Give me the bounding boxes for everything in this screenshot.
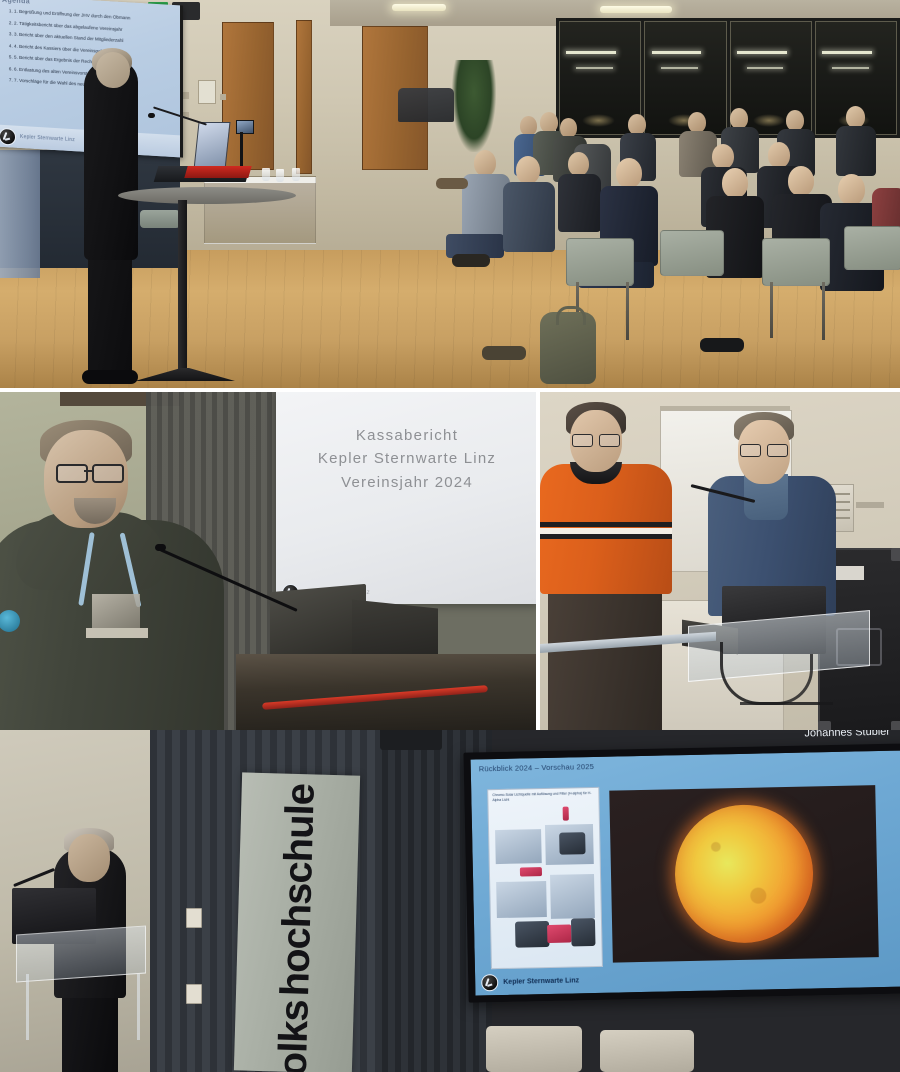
ceiling-light bbox=[392, 4, 446, 11]
auxiliary-monitor bbox=[236, 120, 254, 134]
window-pane bbox=[644, 21, 726, 135]
lens-left bbox=[56, 464, 88, 483]
audience-head bbox=[788, 166, 814, 196]
projection-screen-kassabericht: Kassabericht Kepler Sternwarte Linz Vere… bbox=[276, 392, 536, 604]
hoodie-print-banner bbox=[86, 628, 148, 638]
water-glass bbox=[276, 169, 284, 182]
panel-treasurer-report: Kassabericht Kepler Sternwarte Linz Vere… bbox=[0, 392, 536, 730]
lens-right bbox=[599, 434, 620, 447]
audience-head bbox=[616, 158, 642, 188]
audience-head bbox=[786, 110, 804, 131]
audience-head bbox=[540, 112, 558, 133]
chair-leg bbox=[626, 282, 629, 340]
audience-head bbox=[688, 112, 706, 133]
slide-line-1: Kassabericht bbox=[276, 424, 536, 447]
solar-image bbox=[609, 785, 879, 963]
standing-desk-top bbox=[118, 187, 296, 204]
lens-left bbox=[572, 434, 593, 447]
hall-door bbox=[222, 22, 274, 170]
chair-leg bbox=[822, 282, 825, 340]
audience-head bbox=[722, 168, 748, 198]
coat-rack bbox=[398, 88, 454, 122]
ceiling-speaker bbox=[380, 730, 442, 750]
audience-shoe bbox=[452, 254, 490, 267]
diagram-caption: Chromo-Solar Lichtquelle mit Auflösung u… bbox=[488, 788, 598, 804]
wall-socket bbox=[186, 984, 202, 1004]
audience-head bbox=[582, 124, 601, 146]
audience-head bbox=[474, 150, 496, 176]
red-keyboard bbox=[184, 166, 251, 178]
audience-head bbox=[568, 152, 589, 176]
audience-head bbox=[838, 174, 865, 205]
banner-line-2: hochschule bbox=[275, 783, 321, 996]
water-glass bbox=[262, 168, 270, 181]
audience-head bbox=[628, 114, 646, 135]
slide-line-2: Kepler Sternwarte Linz bbox=[276, 447, 536, 470]
banner-line-1: Volks bbox=[272, 1000, 315, 1072]
eyeglasses-icon bbox=[56, 464, 128, 479]
presentation-screen: Rückblick 2024 – Vorschau 2025 Chromo-So… bbox=[463, 743, 900, 1002]
auditorium-chair bbox=[844, 226, 900, 270]
slide-header: Rückblick 2024 – Vorschau 2025 bbox=[479, 762, 594, 773]
water-glasses bbox=[262, 168, 308, 182]
speaker-head bbox=[68, 834, 110, 882]
sun-disc-icon bbox=[674, 803, 815, 944]
banner-text: Volks hochschule bbox=[234, 772, 360, 1072]
slide-line-3: Vereinsjahr 2024 bbox=[276, 471, 536, 494]
microphone-icon bbox=[148, 113, 155, 118]
audience-head bbox=[712, 144, 734, 169]
slide-footer-label: Kepler Sternwarte Linz bbox=[20, 134, 75, 143]
eyeglasses-icon bbox=[740, 444, 788, 455]
potted-plant bbox=[452, 60, 496, 152]
observatory-logo-icon bbox=[0, 127, 16, 145]
speaker-head bbox=[96, 52, 130, 88]
audience-head bbox=[730, 108, 748, 129]
audience-torso bbox=[836, 126, 876, 176]
panel-review-preview: Volks hochschule Rückblick 2024 – Vorsch… bbox=[0, 730, 900, 1072]
volkshochschule-banner: Volks hochschule bbox=[234, 772, 360, 1072]
slide-equipment-diagram: Chromo-Solar Lichtquelle mit Auflösung u… bbox=[487, 787, 603, 969]
photo-collage: Agenda 1. Begrüßung und Eröffnung der JH… bbox=[0, 0, 900, 1072]
observatory-logo-icon bbox=[481, 974, 498, 991]
lens-left bbox=[740, 444, 761, 457]
presenter-left-legs bbox=[548, 590, 662, 730]
lens-right bbox=[92, 464, 124, 483]
audience-shoe bbox=[436, 178, 468, 189]
wall-switch bbox=[182, 92, 189, 99]
standing-desk-stem bbox=[178, 200, 187, 375]
panel-lecture-hall-overview: Agenda 1. Begrüßung und Eröffnung der JH… bbox=[0, 0, 900, 388]
audience-torso bbox=[558, 174, 601, 232]
audience-shoe bbox=[700, 338, 744, 352]
auditorium-chair bbox=[566, 238, 634, 286]
auditorium-chair bbox=[660, 230, 724, 276]
empty-chair bbox=[140, 210, 180, 228]
panel-two-presenters bbox=[540, 392, 900, 730]
stage-chair bbox=[600, 1030, 694, 1072]
lectern-frame bbox=[26, 974, 140, 1040]
audience-torso bbox=[503, 182, 555, 252]
audience-shoe bbox=[482, 346, 526, 360]
speaker-legs bbox=[88, 245, 132, 380]
wall-sign bbox=[856, 502, 884, 508]
audience-head bbox=[846, 106, 865, 128]
audience-head bbox=[560, 118, 577, 138]
wall-poster bbox=[198, 80, 216, 104]
stage-chair bbox=[486, 1026, 582, 1072]
slide-text: Kassabericht Kepler Sternwarte Linz Vere… bbox=[276, 424, 536, 494]
backpack bbox=[540, 312, 596, 384]
auditorium-chair bbox=[762, 238, 830, 286]
audience-head bbox=[768, 142, 790, 168]
water-glass bbox=[292, 168, 300, 181]
lens-right bbox=[767, 444, 788, 457]
microphone-icon bbox=[155, 544, 166, 551]
chair-leg bbox=[770, 282, 773, 338]
hall-door bbox=[296, 20, 312, 174]
presenter-left-torso bbox=[540, 464, 672, 594]
laptop-screen bbox=[193, 122, 230, 170]
audience-head bbox=[516, 156, 540, 184]
lectern-desk bbox=[236, 654, 536, 730]
slide-author-label: Johannes Stübler bbox=[804, 730, 890, 739]
slide-footer-label: Kepler Sternwarte Linz bbox=[503, 977, 579, 986]
hoodie-print bbox=[92, 594, 140, 628]
ceiling-light bbox=[600, 6, 672, 13]
slide-footer: Kepler Sternwarte Linz bbox=[481, 972, 579, 991]
speaker-torso bbox=[84, 60, 138, 260]
wall-curtain bbox=[0, 150, 40, 278]
glasses-bridge bbox=[84, 470, 92, 472]
wall-socket bbox=[186, 908, 202, 928]
eyeglasses-icon bbox=[572, 434, 620, 445]
wall-switch bbox=[220, 94, 226, 100]
speaker-shoe bbox=[82, 370, 138, 384]
